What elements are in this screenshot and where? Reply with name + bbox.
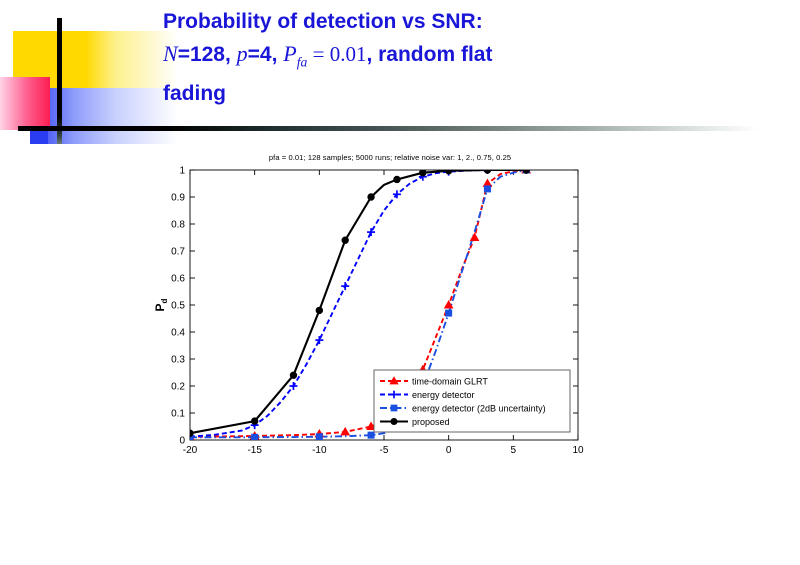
title-N-value: =128, (178, 43, 237, 66)
title-line-3: fading (163, 78, 723, 110)
marker-circle (420, 170, 426, 176)
x-tick-label: -15 (247, 445, 262, 455)
title-line-2: N=128, p=4, Pfa = 0.01, random flat (163, 38, 723, 78)
y-tick-label: 0.5 (171, 301, 185, 312)
y-tick-label: 0.7 (171, 247, 185, 258)
title-line-1: Probability of detection vs SNR: (163, 6, 723, 38)
marker-circle (251, 418, 257, 424)
slide-canvas: Probability of detection vs SNR: N=128, … (0, 0, 800, 565)
decoration-pink-block (0, 77, 50, 130)
y-tick-label: 0 (179, 436, 185, 447)
y-axis-title: Pd (153, 298, 169, 311)
y-tick-label: 0.9 (171, 193, 185, 204)
y-axis-title-subscript: d (160, 298, 169, 303)
marker-circle (391, 418, 397, 424)
title-Pfa-subscript: fa (297, 54, 308, 69)
x-tick-label: 0 (446, 445, 452, 455)
decoration-horizontal-rule (18, 126, 758, 131)
legend-label: energy detector (412, 390, 475, 400)
marker-circle (187, 430, 193, 436)
x-tick-label: 10 (572, 445, 584, 455)
x-tick-label: -5 (380, 445, 389, 455)
title-Pfa-base: P (283, 41, 296, 66)
x-tick-label: 5 (511, 445, 517, 455)
y-axis-title-text: Pd (153, 298, 169, 311)
legend-label: proposed (412, 417, 450, 427)
marker-circle (342, 237, 348, 243)
title-line-2-tail: , random flat (366, 43, 492, 66)
marker-circle (316, 307, 322, 313)
marker-square (368, 432, 374, 438)
title-symbol-Pfa: Pfa (283, 41, 307, 66)
title-symbol-N: N (163, 41, 178, 66)
slide-title: Probability of detection vs SNR: N=128, … (163, 6, 723, 110)
marker-square (446, 310, 452, 316)
y-tick-label: 0.3 (171, 355, 185, 366)
y-tick-label: 0.4 (171, 328, 185, 339)
chart-legend: time-domain GLRTenergy detectorenergy de… (374, 370, 570, 432)
marker-circle (523, 167, 529, 173)
marker-square (484, 186, 490, 192)
marker-circle (394, 176, 400, 182)
y-tick-label: 0.8 (171, 220, 185, 231)
y-tick-label: 0.1 (171, 409, 185, 420)
decoration-blue-block (30, 88, 178, 144)
title-Pfa-value: = 0.01 (307, 42, 366, 66)
y-tick-label: 0.6 (171, 274, 185, 285)
marker-circle (445, 168, 451, 174)
marker-square (391, 405, 397, 411)
x-tick-label: -20 (183, 445, 198, 455)
detection-probability-chart: pfa = 0.01; 128 samples; 5000 runs; rela… (150, 150, 590, 455)
marker-square (252, 434, 258, 440)
marker-circle (368, 194, 374, 200)
marker-circle (484, 167, 490, 173)
legend-label: energy detector (2dB uncertainty) (412, 403, 546, 413)
chart-svg: -20-15-10-5051000.10.20.30.40.50.60.70.8… (150, 150, 590, 455)
legend-label: time-domain GLRT (412, 376, 488, 386)
x-tick-label: -10 (312, 445, 327, 455)
title-p-value: =4, (248, 43, 284, 66)
title-symbol-p: p (237, 41, 248, 66)
y-tick-label: 0.2 (171, 382, 185, 393)
marker-circle (290, 372, 296, 378)
marker-square (316, 434, 322, 440)
y-tick-label: 1 (179, 166, 185, 177)
